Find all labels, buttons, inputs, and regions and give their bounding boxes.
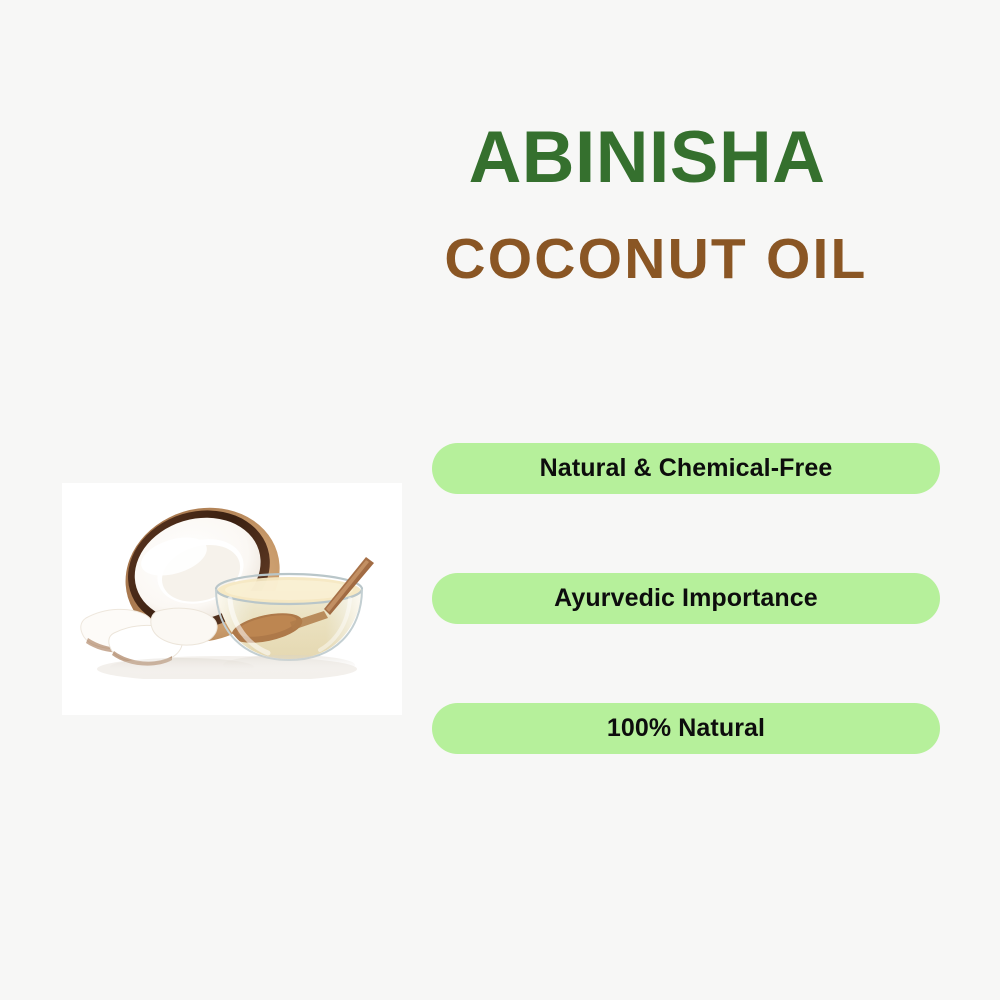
product-title: COCONUT OIL (432, 228, 880, 290)
coconut-oil-illustration (62, 483, 402, 715)
feature-pill: Natural & Chemical-Free (432, 443, 940, 494)
feature-pill: 100% Natural (432, 703, 940, 754)
feature-pill: Ayurvedic Importance (432, 573, 940, 624)
feature-label: Ayurvedic Importance (554, 584, 818, 613)
feature-label: 100% Natural (607, 714, 765, 743)
product-photo (62, 483, 402, 715)
feature-label: Natural & Chemical-Free (540, 454, 833, 483)
product-poster: ABINISHA COCONUT OIL Natural & Chemical-… (0, 0, 1000, 1000)
coconut-reflection (110, 658, 254, 676)
photo-bottom-fade (62, 679, 402, 715)
feature-list: Natural & Chemical-Free Ayurvedic Import… (432, 443, 940, 754)
brand-title: ABINISHA (432, 119, 862, 197)
